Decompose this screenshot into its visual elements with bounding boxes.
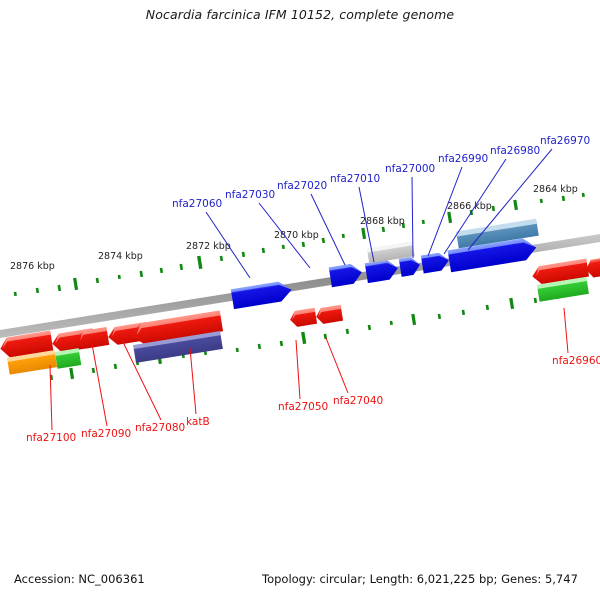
genome-stats-text: Topology: circular; Length: 6,021,225 bp… [262, 572, 578, 586]
gene-label-forward: nfa26990 [438, 153, 488, 165]
ruler-tick-label: 2870 kbp [274, 230, 319, 241]
reverse-strand-gene-track [0, 256, 600, 358]
gene-label-forward: nfa26970 [540, 135, 590, 147]
ruler-tick-label: 2872 kbp [186, 241, 231, 252]
gene-label-reverse: katB [186, 416, 210, 428]
gene-label-reverse: nfa27080 [135, 422, 185, 434]
genome-diagram: 2876 kbp 2874 kbp 2872 kbp 2870 kbp 2868… [0, 0, 600, 600]
gene-arrow-forward[interactable] [329, 262, 364, 287]
gene-label-forward: nfa27030 [225, 189, 275, 201]
gene-arrow-reverse[interactable] [315, 305, 343, 325]
gene-arrow-reverse[interactable] [289, 308, 317, 328]
gene-arrow-forward[interactable] [295, 271, 317, 291]
gene-label-forward: nfa27020 [277, 180, 327, 192]
reverse-gene-labels: nfa27100 nfa27090 nfa27080 katB nfa27050… [26, 355, 600, 444]
ruler-tick-label: 2876 kbp [10, 261, 55, 272]
gene-label-forward: nfa27000 [385, 163, 435, 175]
gene-arrow-forward[interactable] [235, 280, 295, 309]
gene-arrow-forward[interactable] [421, 251, 451, 273]
forward-gene-labels: nfa27060 nfa27030 nfa27020 nfa27010 nfa2… [172, 135, 590, 210]
gene-label-forward: nfa26980 [490, 145, 540, 157]
gene-label-reverse: nfa27090 [81, 428, 131, 440]
ruler-tick-label: 2864 kbp [533, 184, 578, 195]
accession-text: Accession: NC_006361 [14, 572, 145, 586]
gene-label-forward: nfa27060 [172, 198, 222, 210]
gene-label-reverse: nfa27040 [333, 395, 383, 407]
ruler-tick-label: 2874 kbp [98, 251, 143, 262]
genome-map-canvas: Nocardia farcinica IFM 10152, complete g… [0, 0, 600, 600]
gene-label-forward: nfa27010 [330, 173, 380, 185]
gene-label-reverse: nfa27100 [26, 432, 76, 444]
gene-arrow-forward[interactable] [399, 256, 422, 277]
gene-label-reverse: nfa26960 [552, 355, 600, 367]
ruler-tick-label: 2866 kbp [447, 201, 492, 212]
green-feature-bar[interactable] [55, 348, 81, 369]
gene-label-reverse: nfa27050 [278, 401, 328, 413]
